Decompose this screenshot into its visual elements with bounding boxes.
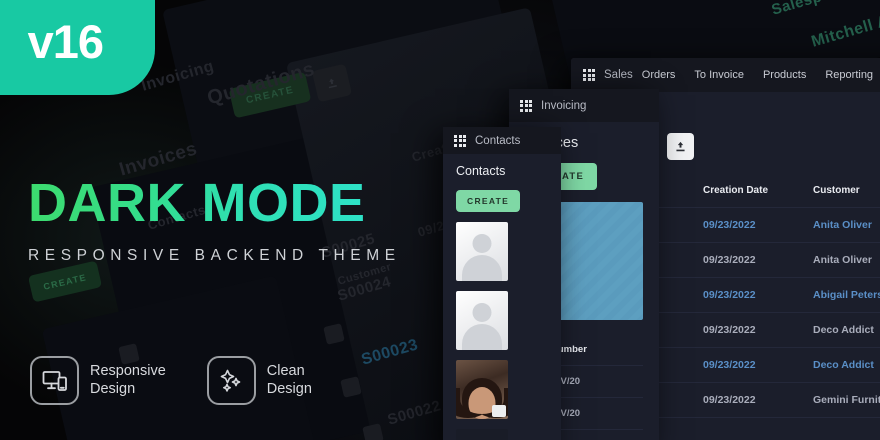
cell-customer: Anita Oliver xyxy=(813,208,880,243)
ghost-square xyxy=(340,376,362,398)
menu-item-to-invoice[interactable]: To Invoice xyxy=(694,69,744,81)
feature-clean-design: Clean Design xyxy=(207,356,312,405)
cell-number: INV/20 xyxy=(551,366,643,398)
cell-date: 09/23/2022 xyxy=(703,208,813,243)
contacts-body: Contacts CREATE A xyxy=(443,154,561,440)
hero-subtitle: RESPONSIVE BACKEND THEME xyxy=(28,247,401,265)
cell-date: 09/23/2022 xyxy=(703,348,813,383)
contacts-action-bar: CREATE xyxy=(456,190,548,212)
contact-card-avatar[interactable] xyxy=(456,291,508,350)
avatar-photo-badge xyxy=(492,405,506,417)
apps-grid-icon[interactable] xyxy=(583,69,595,81)
version-badge-label: v16 xyxy=(28,18,103,65)
column-header-number[interactable]: Number xyxy=(551,334,643,366)
sparkles-icon xyxy=(207,356,256,405)
sales-menu: Orders To Invoice Products Reporting Con… xyxy=(642,69,880,81)
cell-customer: Anita Oliver xyxy=(813,243,880,278)
ghost-create-button: CREATE xyxy=(229,72,312,119)
feature-responsive-design: Responsive Design xyxy=(30,356,166,405)
contacts-app-window: Contacts Contacts CREATE A xyxy=(443,127,561,440)
sales-appbar: Sales Orders To Invoice Products Reporti… xyxy=(571,58,880,92)
cell-customer: Deco Addict xyxy=(813,348,880,383)
menu-item-reporting[interactable]: Reporting xyxy=(825,69,873,81)
devices-icon xyxy=(30,356,79,405)
apps-grid-icon[interactable] xyxy=(520,100,532,112)
avatar-placeholder-body xyxy=(462,324,502,350)
create-button[interactable]: CREATE xyxy=(456,190,520,212)
apps-grid-icon[interactable] xyxy=(454,135,466,147)
watermark-s00024: S00024 xyxy=(336,273,393,304)
cell-number: INV/20 xyxy=(551,398,643,430)
promo-banner: CREATE CREATE Quotations Invoicing Invoi… xyxy=(0,0,880,440)
cell-date: 09/23/2022 xyxy=(703,243,813,278)
avatar-placeholder-head xyxy=(473,303,492,322)
cell-customer: Abigail Peterson xyxy=(813,278,880,313)
version-badge: v16 xyxy=(0,0,155,95)
feature-badges: Responsive Design Clean Design xyxy=(30,356,312,405)
feature-label: Clean Design xyxy=(267,363,312,397)
ghost-square xyxy=(323,323,345,345)
ghost-create-button-2: CREATE xyxy=(28,260,102,302)
page-title: DARK MODE xyxy=(28,176,401,230)
avatar-placeholder-body xyxy=(462,255,502,281)
contact-card-company-logo[interactable]: A xyxy=(456,429,508,440)
cell-date: 09/23/2022 xyxy=(703,278,813,313)
watermark-s00023: S00023 xyxy=(360,336,421,369)
contact-card-photo[interactable] xyxy=(456,360,508,419)
feature-label: Responsive Design xyxy=(90,363,166,397)
column-header-customer[interactable]: Customer xyxy=(813,174,880,208)
menu-item-products[interactable]: Products xyxy=(763,69,806,81)
watermark-salesperson: Salesperson xyxy=(770,0,866,19)
avatar-placeholder-head xyxy=(473,234,492,253)
cell-customer: Deco Addict xyxy=(813,313,880,348)
ghost-upload-icon xyxy=(312,64,352,103)
contact-card-avatar[interactable] xyxy=(456,222,508,281)
contacts-page-title: Contacts xyxy=(456,164,548,178)
app-name-invoicing[interactable]: Invoicing xyxy=(541,100,586,112)
watermark-s00022: S00022 xyxy=(386,397,443,428)
cell-date: 09/23/2022 xyxy=(703,383,813,418)
ghost-square xyxy=(362,423,384,440)
column-header-creation-date[interactable]: Creation Date xyxy=(703,174,813,208)
watermark-mitchell-admin: Mitchell Admin xyxy=(810,1,880,51)
menu-item-orders[interactable]: Orders xyxy=(642,69,676,81)
upload-icon[interactable] xyxy=(667,133,694,160)
invoicing-appbar: Invoicing xyxy=(509,89,659,122)
watermark-quotations: Quotations xyxy=(205,58,318,111)
app-name-contacts[interactable]: Contacts xyxy=(475,135,520,147)
hero-block: DARK MODE RESPONSIVE BACKEND THEME xyxy=(28,176,401,265)
contacts-appbar: Contacts xyxy=(443,127,561,154)
app-name-sales[interactable]: Sales xyxy=(604,69,633,81)
cell-date: 09/23/2022 xyxy=(703,313,813,348)
cell-customer: Gemini Furniture xyxy=(813,383,880,418)
